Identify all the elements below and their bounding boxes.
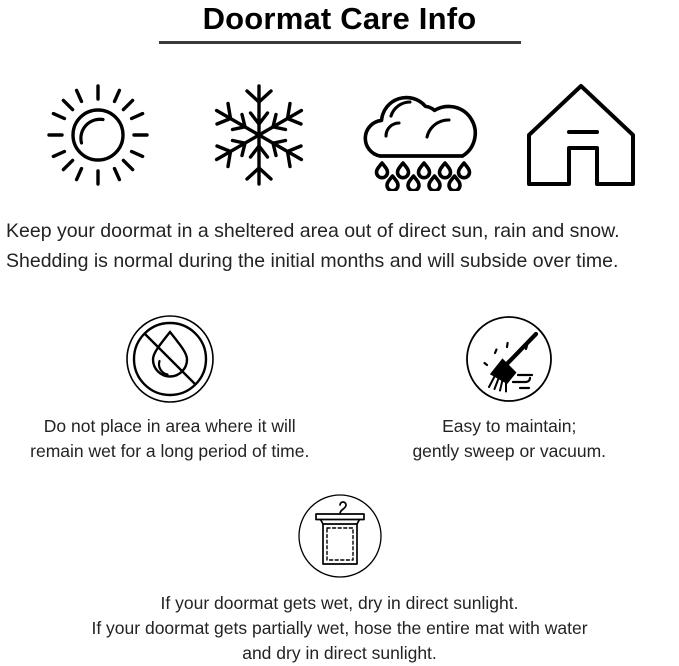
dry-caption-line-2: If your doormat gets partially wet, hose… [91,616,587,641]
hang-dry-icon [296,492,384,580]
hang-dry-badge [293,489,387,583]
dry-instructions-block: If your doormat gets wet, dry in direct … [0,489,679,666]
title-underline-rule [159,41,521,44]
care-caption-no-standing-water: Do not place in area where it will remai… [30,414,309,464]
sun-icon [45,82,151,188]
page-title: Doormat Care Info [0,0,679,36]
care-caption-line-1: Easy to maintain; [412,414,606,439]
page-header: Doormat Care Info [0,0,679,44]
weather-icon-row [0,74,679,196]
house-icon [523,79,639,191]
care-instructions-row: Do not place in area where it will remai… [0,312,679,464]
weather-item-snow [194,75,324,195]
broom-badge [462,312,556,406]
intro-line-1: Keep your doormat in a sheltered area ou… [6,216,673,246]
intro-line-2: Shedding is normal during the initial mo… [6,246,673,276]
care-caption-sweep-vacuum: Easy to maintain; gently sweep or vacuum… [412,414,606,464]
intro-paragraph: Keep your doormat in a sheltered area ou… [0,216,679,276]
weather-item-rain [355,75,485,195]
weather-item-sun [33,75,163,195]
care-item-sweep-vacuum: Easy to maintain; gently sweep or vacuum… [340,312,679,464]
dry-caption-line-1: If your doormat gets wet, dry in direct … [91,591,587,616]
broom-icon [463,313,555,405]
dry-caption-line-3: and dry in direct sunlight. [91,641,587,666]
care-caption-line-2: remain wet for a long period of time. [30,439,309,464]
care-item-no-standing-water: Do not place in area where it will remai… [0,312,340,464]
no-water-icon [124,313,216,405]
rain-cloud-icon [358,79,482,191]
care-caption-line-1: Do not place in area where it will [30,414,309,439]
snowflake-icon [206,80,312,190]
no-water-badge [123,312,217,406]
care-caption-line-2: gently sweep or vacuum. [412,439,606,464]
weather-item-house [516,75,646,195]
